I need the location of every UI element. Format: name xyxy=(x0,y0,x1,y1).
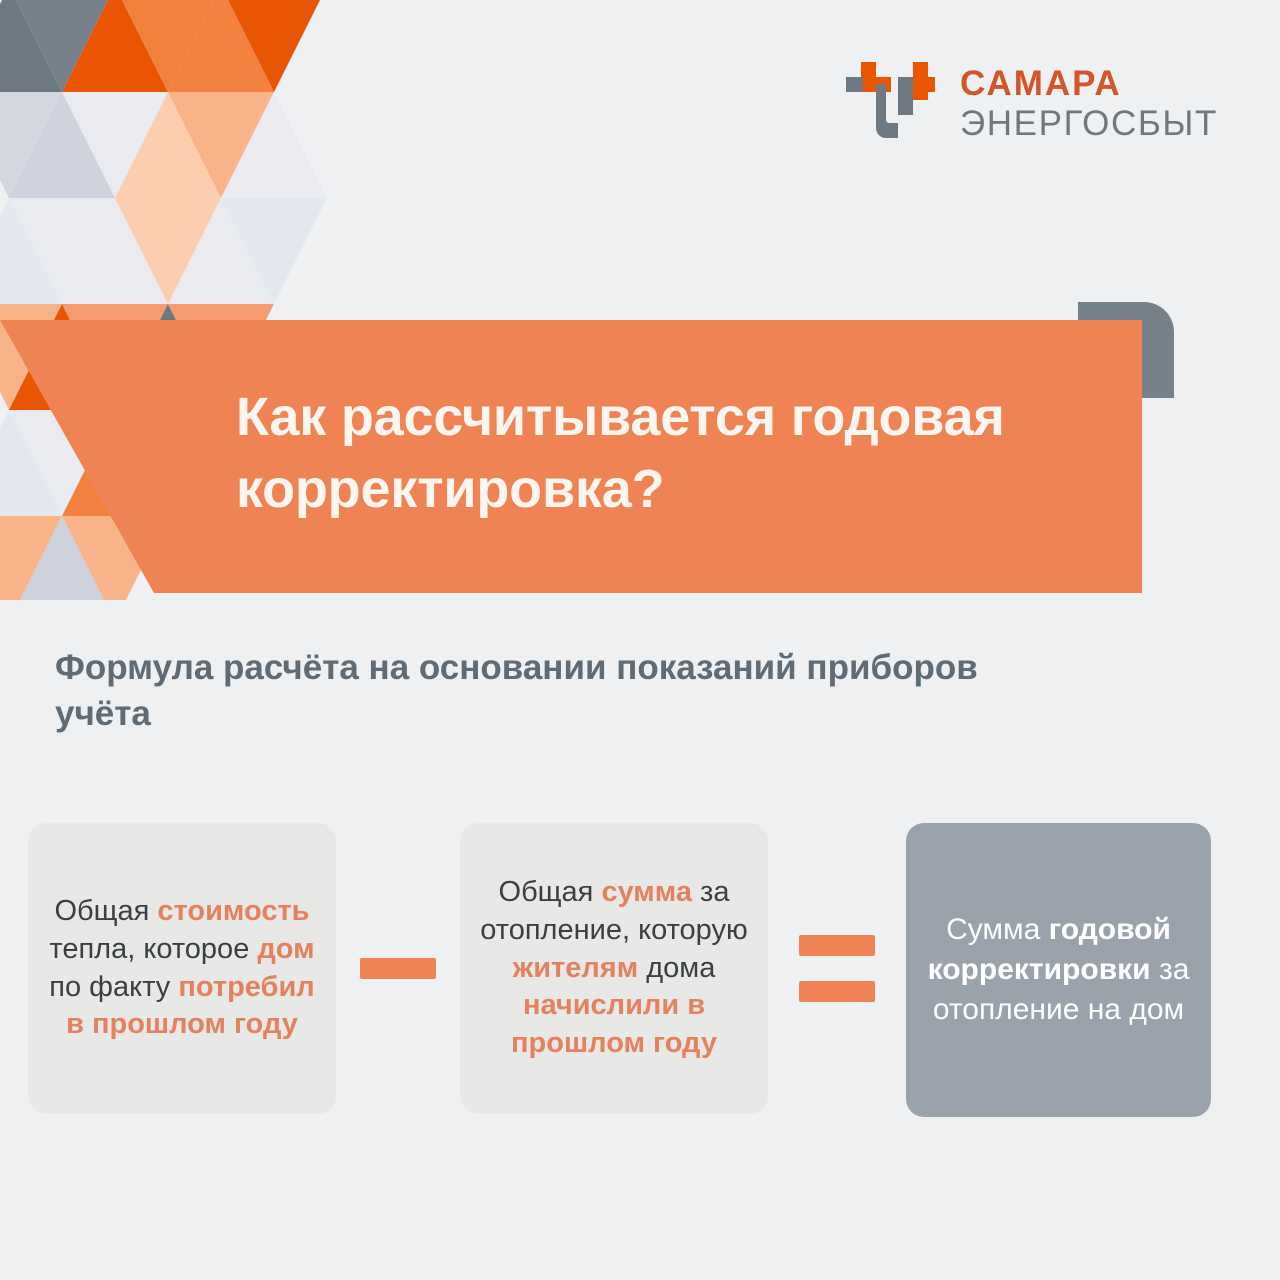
page-title: Как рассчитывается годовая корректировка… xyxy=(236,382,1116,526)
equals-bar-top-icon xyxy=(799,935,875,956)
formula-card-total-charged: Общая сумма за отопление, которую жителя… xyxy=(460,823,768,1114)
formula-card-total-charged-text: Общая сумма за отопление, которую жителя… xyxy=(476,874,752,1062)
equals-bar-bottom-icon xyxy=(799,981,875,1002)
subtitle: Формула расчёта на основании показаний п… xyxy=(55,645,1015,737)
operator-equals xyxy=(768,823,906,1114)
formula-card-result-text: Сумма годовой корректировки за отопление… xyxy=(922,910,1195,1030)
operator-minus xyxy=(336,823,460,1114)
formula-row: Общая стоимость тепла, которое дом по фа… xyxy=(28,823,1212,1123)
headline-banner: Как рассчитывается годовая корректировка… xyxy=(0,320,1142,593)
infographic-canvas: САМАРА ЭНЕРГОСБЫТ Как рассчитывается год… xyxy=(0,0,1280,1280)
brand-logo: САМАРА ЭНЕРГОСБЫТ xyxy=(842,58,1218,150)
minus-bar-icon xyxy=(360,958,436,979)
formula-card-total-cost-text: Общая стоимость тепла, которое дом по фа… xyxy=(44,893,320,1044)
brand-wordmark: САМАРА ЭНЕРГОСБЫТ xyxy=(960,66,1218,141)
t-plus-logo-icon xyxy=(842,58,938,150)
formula-card-total-cost: Общая стоимость тепла, которое дом по фа… xyxy=(28,823,336,1114)
formula-card-result: Сумма годовой корректировки за отопление… xyxy=(906,823,1211,1117)
brand-name-line-2: ЭНЕРГОСБЫТ xyxy=(960,106,1218,142)
brand-name-line-1: САМАРА xyxy=(960,66,1122,102)
